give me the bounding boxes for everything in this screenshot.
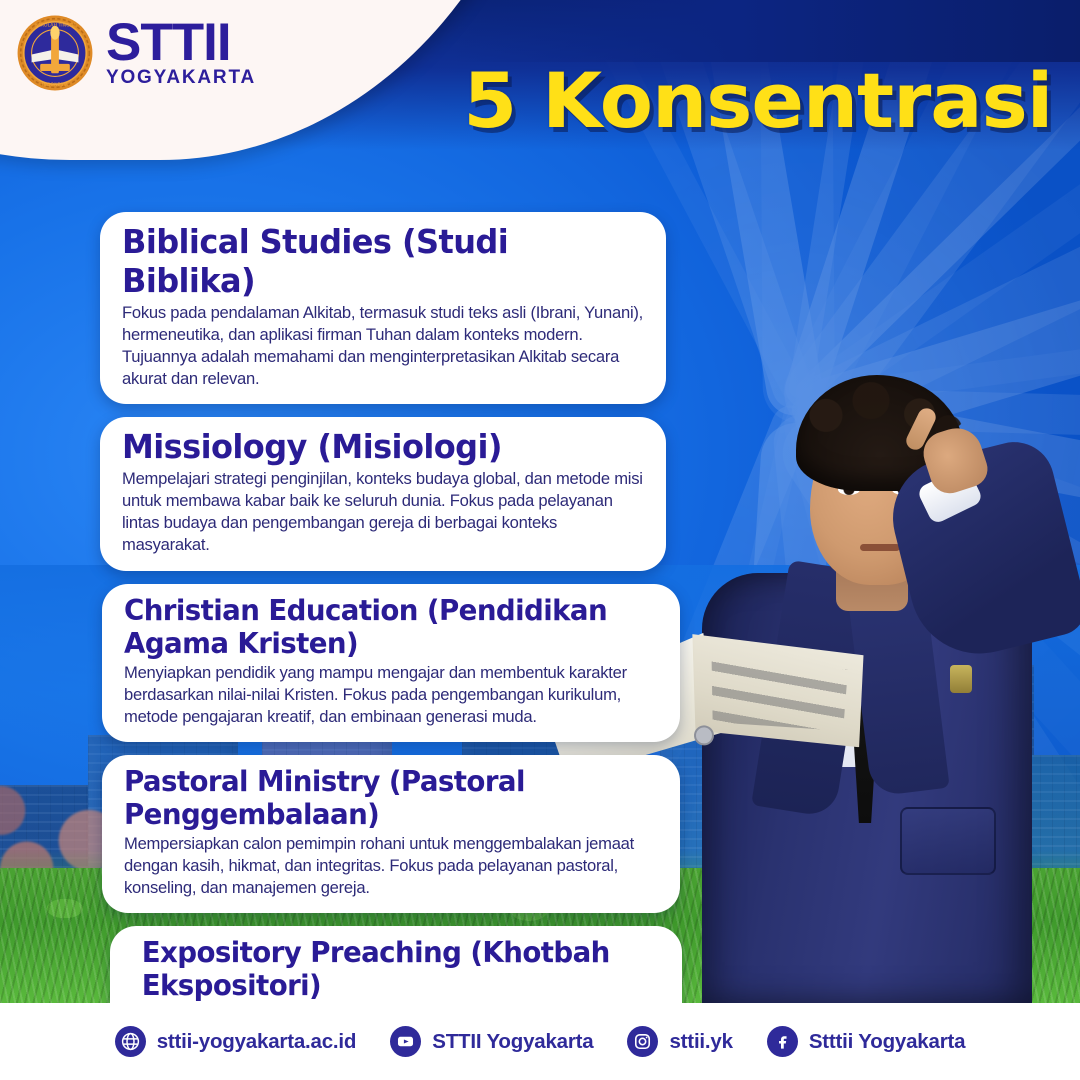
footer-website[interactable]: sttii-yogyakarta.ac.id <box>115 1026 357 1057</box>
brand-name: STTII <box>106 19 256 68</box>
facebook-icon <box>767 1026 798 1057</box>
concentration-card[interactable]: Pastoral Ministry (Pastoral Penggembalaa… <box>102 755 680 913</box>
card-title: Expository Preaching (Khotbah Ekspositor… <box>132 936 644 1002</box>
blazer-badge <box>950 665 972 693</box>
footer-instagram-label: sttii.yk <box>669 1030 732 1054</box>
stttii-seal-logo: SEKOLAH TINGGI INDONESIA <box>16 14 94 92</box>
card-body: Fokus pada pendalaman Alkitab, termasuk … <box>122 302 644 390</box>
card-title: Christian Education (Pendidikan Agama Kr… <box>124 594 642 660</box>
footer-facebook[interactable]: Stttii Yogyakarta <box>767 1026 965 1057</box>
footer-instagram[interactable]: sttii.yk <box>627 1026 732 1057</box>
footer-youtube-label: STTII Yogyakarta <box>432 1030 593 1054</box>
blazer-pocket <box>900 807 996 875</box>
brand-text: STTII YOGYAKARTA <box>106 19 256 86</box>
brand-logo[interactable]: SEKOLAH TINGGI INDONESIA STTII YOGYAKART… <box>16 14 256 92</box>
svg-text:SEKOLAH TINGGI: SEKOLAH TINGGI <box>35 22 75 28</box>
footer-facebook-label: Stttii Yogyakarta <box>809 1030 965 1054</box>
card-body: Mempersiapkan calon pemimpin rohani untu… <box>124 833 658 899</box>
mouth <box>860 544 900 551</box>
page-title: 5 Konsentrasi <box>463 56 1052 145</box>
concentration-card[interactable]: Missiology (Misiologi) Mempelajari strat… <box>100 417 666 570</box>
student-photo <box>650 203 1080 1003</box>
footer-bar: sttii-yogyakarta.ac.id STTII Yogyakarta … <box>0 1003 1080 1080</box>
footer-youtube[interactable]: STTII Yogyakarta <box>390 1026 593 1057</box>
card-body: Menyiapkan pendidik yang mampu mengajar … <box>124 662 658 728</box>
book-ring <box>695 727 713 745</box>
globe-icon <box>115 1026 146 1057</box>
concentration-card[interactable]: Christian Education (Pendidikan Agama Kr… <box>102 584 680 742</box>
card-title: Pastoral Ministry (Pastoral Penggembalaa… <box>124 765 642 831</box>
svg-text:INDONESIA: INDONESIA <box>42 82 69 88</box>
card-title: Missiology (Misiologi) <box>122 427 628 466</box>
card-body: Mempelajari strategi penginjilan, kontek… <box>122 468 644 556</box>
concentration-card-list: Biblical Studies (Studi Biblika) Fokus p… <box>100 212 660 1080</box>
instagram-icon <box>627 1026 658 1057</box>
brand-location: YOGYAKARTA <box>106 69 256 86</box>
top-right-navy-band <box>454 0 1080 62</box>
poster-canvas: SEKOLAH TINGGI INDONESIA STTII YOGYAKART… <box>0 0 1080 1080</box>
footer-website-label: sttii-yogyakarta.ac.id <box>157 1030 357 1054</box>
concentration-card[interactable]: Biblical Studies (Studi Biblika) Fokus p… <box>100 212 666 404</box>
card-title: Biblical Studies (Studi Biblika) <box>122 222 628 300</box>
youtube-icon <box>390 1026 421 1057</box>
